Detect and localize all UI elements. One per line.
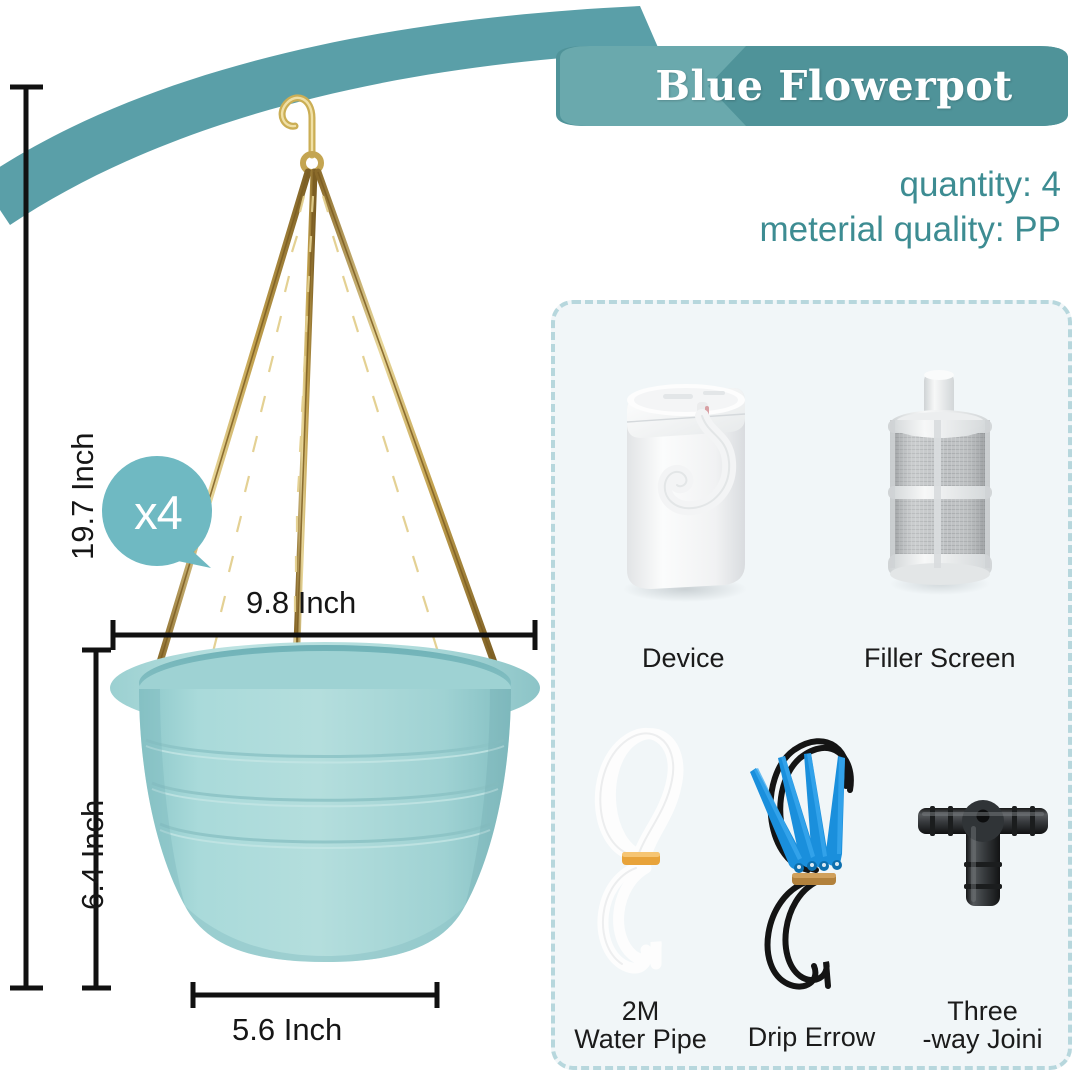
accessory-item-filler-screen: Filler Screen bbox=[812, 322, 1069, 677]
accessory-item-water-pipe: 2M Water Pipe bbox=[555, 686, 726, 1056]
spec-quantity: quantity: 4 bbox=[541, 163, 1061, 208]
accessories-row-top: Device bbox=[555, 322, 1068, 677]
dimension-pot-height: 6.4 Inch bbox=[75, 800, 111, 910]
page-title: Blue Flowerpot bbox=[556, 46, 1068, 126]
drip-arrow-icon bbox=[726, 686, 897, 1023]
tee-connector-icon bbox=[897, 686, 1068, 997]
accessory-item-drip-arrow: Drip Errow bbox=[726, 686, 897, 1056]
accessories-row-bottom: 2M Water Pipe bbox=[555, 686, 1068, 1056]
accessory-label: Three -way Joini bbox=[922, 997, 1042, 1056]
accessory-item-three-way-joint: Three -way Joini bbox=[897, 686, 1068, 1056]
mesh-filter-icon bbox=[812, 322, 1069, 644]
coiled-water-pipe-icon bbox=[555, 686, 726, 997]
dimension-base-diameter: 5.6 Inch bbox=[232, 1012, 342, 1048]
spec-list: quantity: 4 meterial quality: PP bbox=[541, 163, 1061, 253]
accessory-label: Drip Errow bbox=[748, 1023, 876, 1056]
dimension-top-diameter: 9.8 Inch bbox=[246, 585, 356, 621]
dimension-total-height: 19.7 Inch bbox=[65, 432, 101, 560]
accessory-label: Filler Screen bbox=[864, 644, 1016, 677]
quantity-badge-label: x4 bbox=[99, 456, 217, 568]
water-timer-device-icon bbox=[555, 322, 812, 644]
accessory-label: Device bbox=[642, 644, 725, 677]
accessory-label: 2M Water Pipe bbox=[574, 997, 707, 1056]
spec-material: meterial quality: PP bbox=[541, 208, 1061, 253]
accessory-item-device: Device bbox=[555, 322, 812, 677]
quantity-badge: x4 bbox=[99, 456, 217, 574]
product-infographic: Blue Flowerpot quantity: 4 meterial qual… bbox=[0, 0, 1089, 1090]
accessories-panel: Device bbox=[551, 300, 1072, 1070]
title-banner: Blue Flowerpot bbox=[556, 46, 1068, 126]
